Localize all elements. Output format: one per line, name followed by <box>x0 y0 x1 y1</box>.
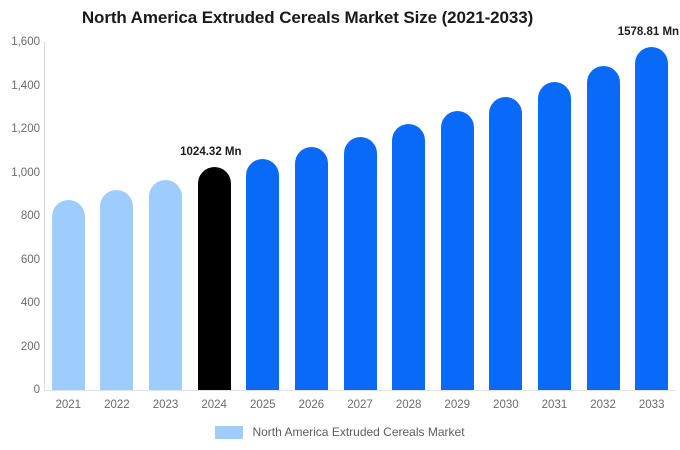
legend-label: North America Extruded Cereals Market <box>252 425 464 439</box>
bar-2022[interactable] <box>100 190 133 390</box>
bar-2028[interactable] <box>392 124 425 390</box>
y-axis-tick-label: 400 <box>2 297 40 309</box>
bar-data-label-2024: 1024.32 Mn <box>180 146 241 158</box>
bar-2030[interactable] <box>489 97 522 390</box>
chart-legend[interactable]: North America Extruded Cereals Market <box>0 425 680 439</box>
y-axis-tick-label: 600 <box>2 254 40 266</box>
x-axis-line <box>44 390 676 391</box>
y-axis-tick-label: 800 <box>2 210 40 222</box>
bar-data-label-2033: 1578.81 Mn <box>618 26 679 38</box>
legend-swatch-icon <box>215 426 243 439</box>
bar-2025[interactable] <box>246 159 279 390</box>
bar-2031[interactable] <box>538 82 571 390</box>
y-axis-tick-label: 1,400 <box>2 80 40 92</box>
y-axis-tick-label: 1,600 <box>2 36 40 48</box>
bar-2029[interactable] <box>441 111 474 390</box>
y-axis-tick-label: 1,000 <box>2 167 40 179</box>
plot-area <box>44 42 676 390</box>
y-axis-tick-label: 1,200 <box>2 123 40 135</box>
bar-2023[interactable] <box>149 180 182 390</box>
bar-2024[interactable] <box>198 167 231 390</box>
bar-2026[interactable] <box>295 147 328 390</box>
x-axis-tick-label-2033: 2033 <box>622 399 680 411</box>
bar-chart: North America Extruded Cereals Market Si… <box>0 0 680 450</box>
y-axis-tick-label: 0 <box>2 384 40 396</box>
chart-title: North America Extruded Cereals Market Si… <box>0 8 615 28</box>
bar-2032[interactable] <box>587 66 620 390</box>
y-axis-tick-label: 200 <box>2 341 40 353</box>
bar-2027[interactable] <box>344 137 377 390</box>
y-axis: 1,6001,4001,2001,0008006004002000 <box>0 0 40 450</box>
bar-2033[interactable] <box>635 47 668 390</box>
bar-2021[interactable] <box>52 200 85 390</box>
